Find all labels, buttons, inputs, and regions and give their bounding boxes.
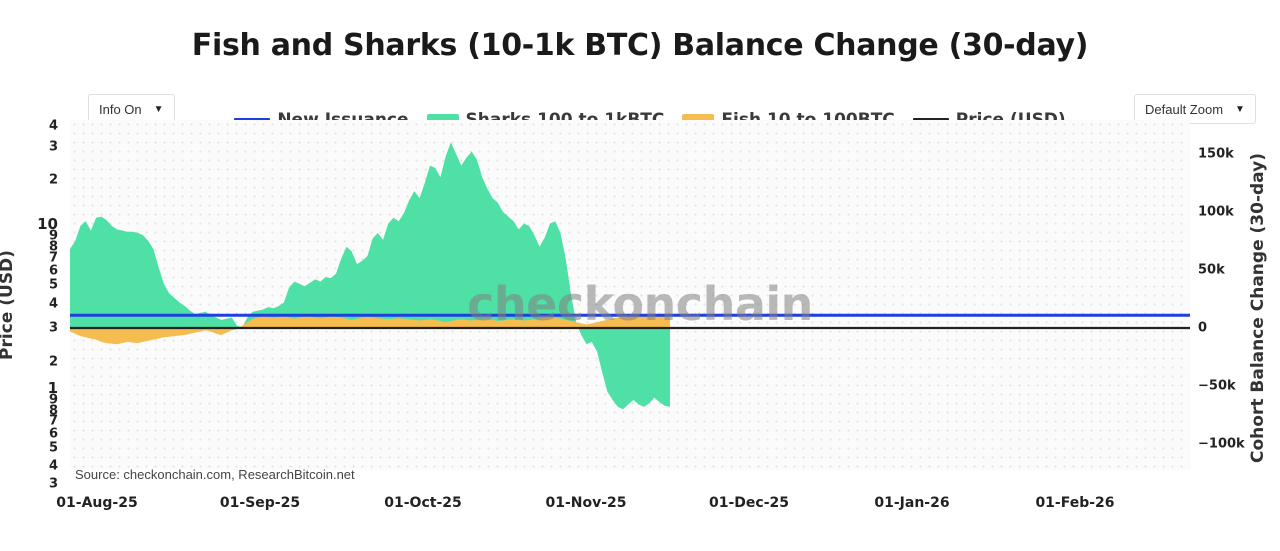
source-note: Source: checkonchain.com, ResearchBitcoi… [75,467,355,482]
y-axis-left-tick-label: 4 [14,297,58,312]
y-axis-left-tick-label: 3 [14,140,58,155]
y-axis-left-tick-label: 2 [14,173,58,188]
y-axis-right-tick-label: 150k [1198,147,1234,162]
y-axis-right-tick-label: 50k [1198,263,1225,278]
y-axis-left-tick-label: 5 [14,441,58,456]
y-axis-left-tick-label: 5 [14,278,58,293]
y-axis-left-tick-label: 3 [14,321,58,336]
y-axis-right-tick-label: 100k [1198,205,1234,220]
y-axis-right-tick-label: −100k [1198,437,1245,452]
x-axis-tick-label: 01-Aug-25 [56,495,137,511]
y-axis-left-tick-label: 6 [14,264,58,279]
y-axis-right-tick-label: −50k [1198,379,1236,394]
zoom-dropdown-label: Default Zoom [1145,102,1223,117]
y-axis-left-tick-label: 4 [14,459,58,474]
chart-plot-area [70,120,1190,470]
x-axis-tick-label: 01-Feb-26 [1035,495,1114,511]
x-axis-tick-label: 01-Nov-25 [545,495,626,511]
y-axis-left-tick-label: 4 [14,119,58,134]
chevron-down-icon: ▼ [154,104,164,115]
y-axis-left-title: Price (USD) [0,250,17,360]
x-axis-tick-label: 01-Jan-26 [874,495,949,511]
x-axis-tick-label: 01-Sep-25 [220,495,300,511]
y-axis-left-tick-label: 3 [14,477,58,492]
y-axis-right-tick-label: 0 [1198,321,1207,336]
y-axis-left-tick-label: 6 [14,427,58,442]
y-axis-right-title: Cohort Balance Change (30-day) [1248,153,1268,463]
x-axis-tick-label: 01-Dec-25 [709,495,789,511]
y-axis-left-tick-label: 2 [14,355,58,370]
x-axis-tick-label: 01-Oct-25 [384,495,461,511]
chevron-down-icon: ▼ [1235,104,1245,115]
chart-canvas [70,120,1190,470]
series-area-sharks [70,142,670,409]
page-title: Fish and Sharks (10-1k BTC) Balance Chan… [0,28,1280,63]
info-dropdown-label: Info On [99,102,142,117]
